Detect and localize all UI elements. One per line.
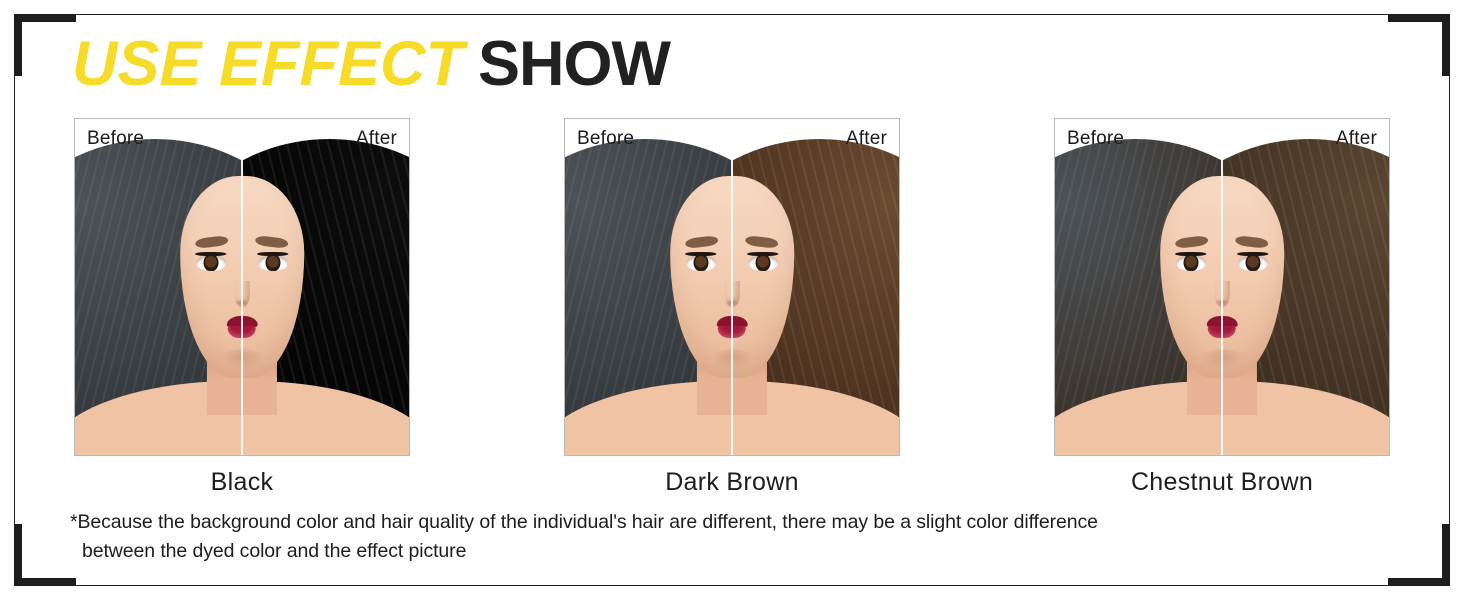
use-effect-show-banner: USE EFFECTSHOW Before After — [0, 0, 1464, 600]
before-after-photo: Before After — [564, 118, 900, 456]
page-title-accent: USE EFFECT — [72, 29, 478, 99]
disclaimer-line-1: *Because the background color and hair q… — [70, 508, 1400, 537]
eye-left — [686, 255, 716, 271]
eyebrow-left — [685, 235, 719, 249]
before-after-panel[interactable]: Before After — [1054, 118, 1390, 497]
before-after-panel-row: Before After — [74, 118, 1390, 498]
eyebrow-right — [745, 235, 779, 249]
split-divider-line — [731, 119, 733, 455]
after-label: After — [356, 128, 397, 150]
panel-caption: Black — [74, 468, 410, 497]
eyebrow-right — [255, 235, 289, 249]
split-divider-line — [1221, 119, 1223, 455]
page-title-plain: SHOW — [478, 29, 670, 99]
before-after-panel[interactable]: Before After — [564, 118, 900, 497]
after-label: After — [1336, 128, 1377, 150]
panel-caption: Dark Brown — [564, 468, 900, 497]
corner-bracket-top-right — [1388, 14, 1450, 76]
before-label: Before — [1067, 128, 1124, 150]
eyelash-right — [747, 252, 778, 256]
corner-bracket-bottom-left — [14, 524, 76, 586]
eyelash-left — [1176, 252, 1207, 256]
eyebrow-left — [1175, 235, 1209, 249]
corner-bracket-top-left — [14, 14, 76, 76]
split-divider-line — [241, 119, 243, 455]
eyebrow-left — [195, 235, 229, 249]
before-label: Before — [577, 128, 634, 150]
before-after-photo: Before After — [1054, 118, 1390, 456]
eyelash-left — [686, 252, 717, 256]
page-title: USE EFFECTSHOW — [72, 28, 670, 100]
panel-caption: Chestnut Brown — [1054, 468, 1390, 497]
disclaimer-note: *Because the background color and hair q… — [70, 508, 1400, 566]
eye-right — [258, 255, 288, 271]
before-label: Before — [87, 128, 144, 150]
eye-right — [748, 255, 778, 271]
eye-right — [1238, 255, 1268, 271]
disclaimer-line-2: between the dyed color and the effect pi… — [70, 537, 1400, 566]
before-after-panel[interactable]: Before After — [74, 118, 410, 497]
eye-left — [196, 255, 226, 271]
eye-left — [1176, 255, 1206, 271]
eyelash-right — [1237, 252, 1268, 256]
before-after-photo: Before After — [74, 118, 410, 456]
eyelash-right — [257, 252, 288, 256]
eyelash-left — [196, 252, 227, 256]
eyebrow-right — [1235, 235, 1269, 249]
after-label: After — [846, 128, 887, 150]
